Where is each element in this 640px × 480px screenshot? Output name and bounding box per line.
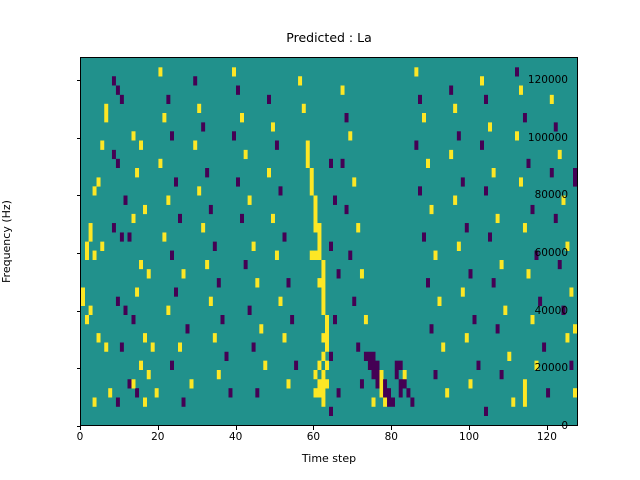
heatmap-image	[81, 58, 577, 425]
x-tick-mark	[236, 426, 237, 430]
x-tick-label: 100	[459, 431, 479, 443]
page-title: Predicted : La	[80, 30, 578, 45]
y-tick-mark	[77, 195, 81, 196]
x-tick-label: 120	[537, 431, 557, 443]
y-tick-mark	[77, 80, 81, 81]
x-tick-label: 20	[151, 431, 164, 443]
y-tick-mark	[77, 368, 81, 369]
matplotlib-figure: Predicted : La 0200004000060000800001000…	[0, 0, 640, 480]
x-tick-mark	[313, 426, 314, 430]
x-tick-mark	[80, 426, 81, 430]
x-tick-mark	[158, 426, 159, 430]
x-tick-mark	[469, 426, 470, 430]
x-tick-label: 0	[77, 431, 84, 443]
y-tick-label: 60000	[535, 247, 568, 259]
y-tick-mark	[77, 253, 81, 254]
x-tick-label: 60	[307, 431, 320, 443]
y-tick-mark	[77, 311, 81, 312]
x-tick-label: 80	[385, 431, 398, 443]
x-tick-mark	[547, 426, 548, 430]
x-tick-label: 40	[229, 431, 242, 443]
y-tick-label: 100000	[528, 132, 568, 144]
y-tick-label: 20000	[535, 362, 568, 374]
y-tick-mark	[77, 138, 81, 139]
y-tick-label: 40000	[535, 305, 568, 317]
y-tick-label: 80000	[535, 189, 568, 201]
y-axis-label: Frequency (Hz)	[0, 57, 14, 426]
y-tick-label: 0	[561, 420, 568, 432]
x-tick-mark	[391, 426, 392, 430]
y-tick-label: 120000	[528, 74, 568, 86]
heatmap-axes	[80, 57, 578, 426]
x-axis-label: Time step	[80, 452, 578, 465]
